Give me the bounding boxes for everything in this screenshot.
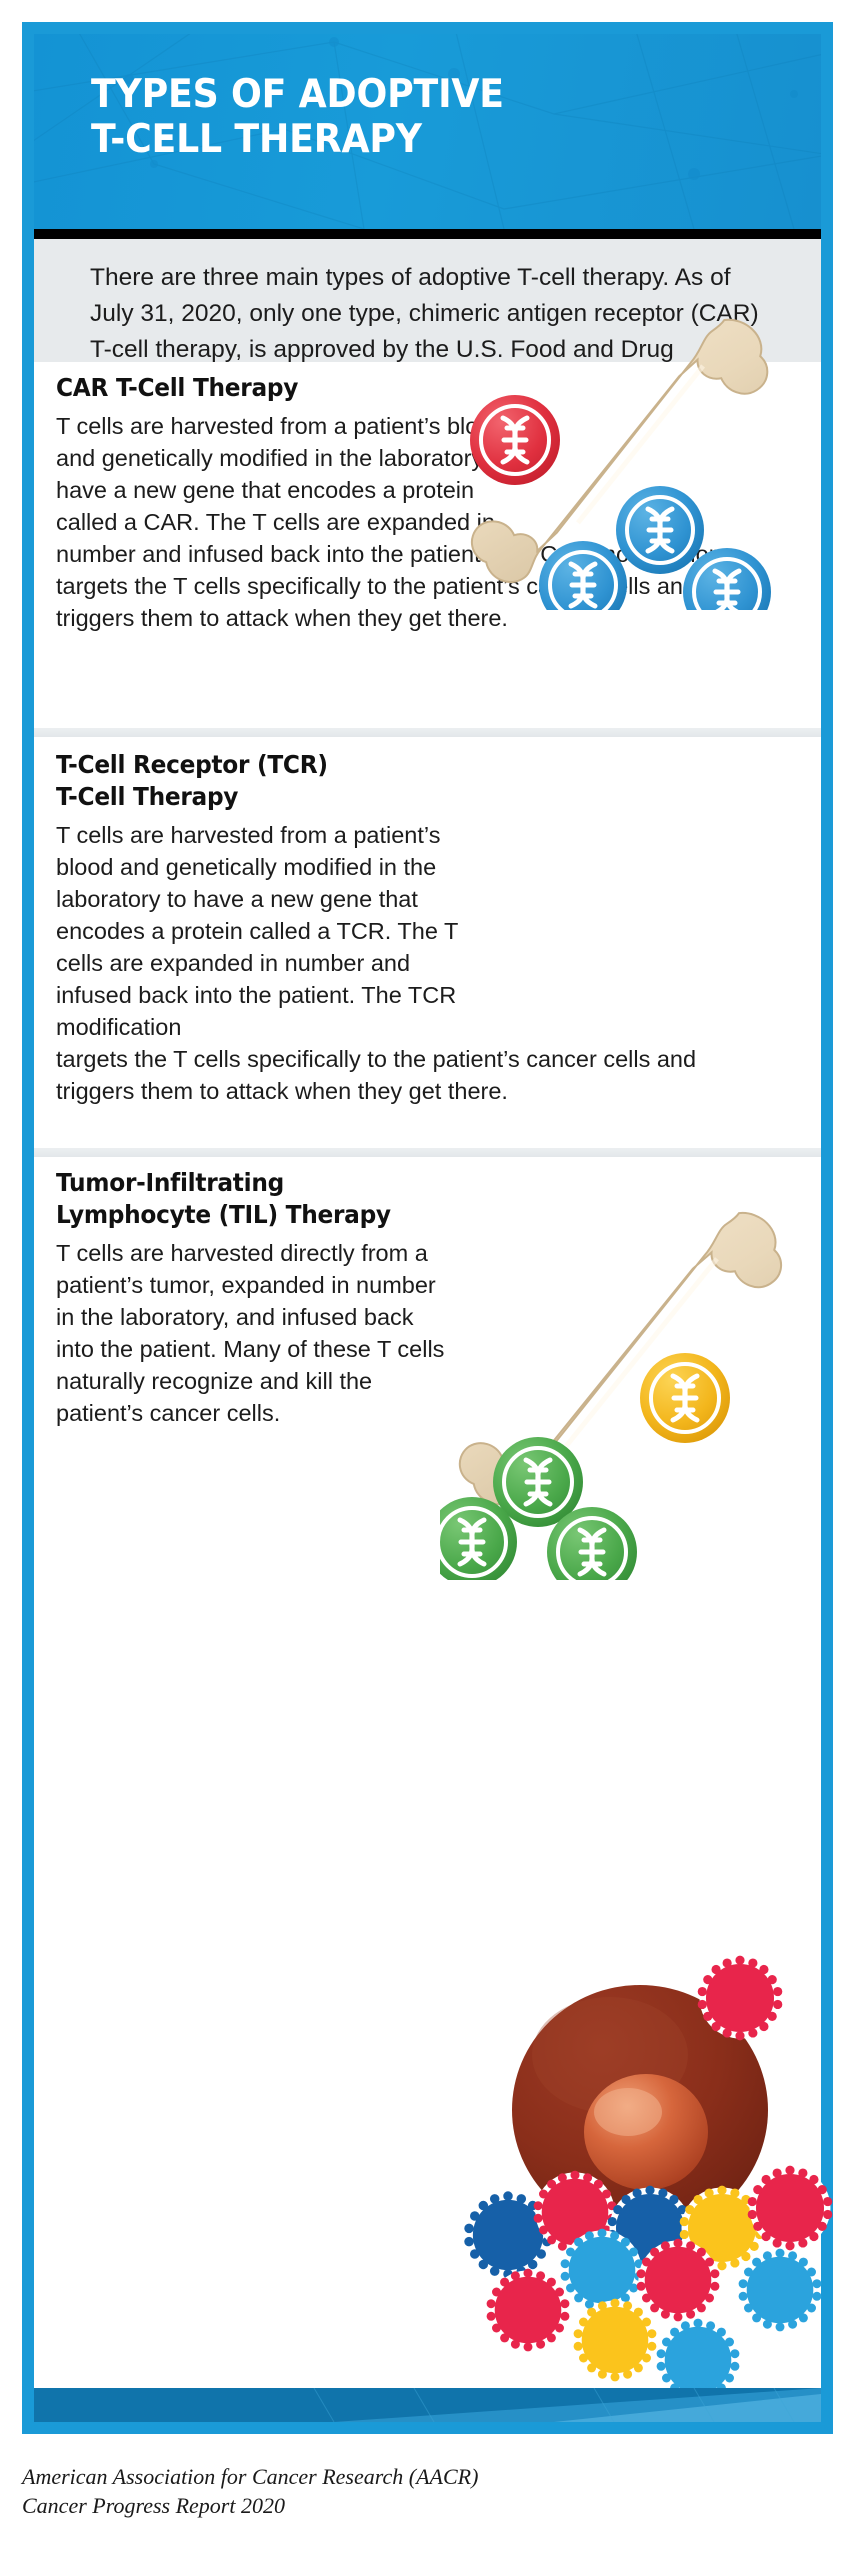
- attribution-line2: Cancer Progress Report 2020: [22, 2491, 722, 2520]
- footer-wedge-shapes: [34, 2388, 821, 2422]
- header-band: TYPES OF ADOPTIVE T-CELL THERAPY: [34, 34, 821, 229]
- section-car-heading: CAR T-Cell Therapy: [56, 372, 521, 404]
- section-tcr-body: T cells are harvested from a patient’s b…: [56, 819, 486, 1107]
- header-black-rule: [34, 229, 821, 239]
- section-til: Tumor-Infiltrating Lymphocyte (TIL) Ther…: [34, 1157, 821, 1577]
- section-tcr-heading-line1: T-Cell Receptor (TCR): [56, 750, 328, 779]
- content-area: CAR T-Cell Therapy T cells are harvested…: [34, 362, 821, 2422]
- attribution: American Association for Cancer Research…: [22, 2462, 722, 2520]
- section-tcr-body-wide: targets the T cells specifically to the …: [56, 1043, 772, 1107]
- section-tcr: T-Cell Receptor (TCR) T-Cell Therapy T c…: [34, 737, 821, 1142]
- section-til-heading-line2: Lymphocyte (TIL) Therapy: [56, 1200, 391, 1229]
- intro-panel: There are three main types of adoptive T…: [34, 239, 821, 362]
- page-title-line1: TYPES OF ADOPTIVE: [91, 72, 504, 117]
- footer-wedge-bar: [34, 2388, 821, 2422]
- section-tcr-heading: T-Cell Receptor (TCR) T-Cell Therapy: [56, 749, 493, 813]
- attribution-line1: American Association for Cancer Research…: [22, 2462, 722, 2491]
- section-car-body: T cells are harvested from a patient’s b…: [56, 410, 526, 634]
- section-til-body: T cells are harvested directly from a pa…: [56, 1237, 456, 1429]
- divider-car-tcr: [34, 728, 821, 737]
- page-title: TYPES OF ADOPTIVE T-CELL THERAPY: [91, 72, 733, 162]
- section-car: CAR T-Cell Therapy T cells are harvested…: [34, 362, 821, 722]
- infographic-root: TYPES OF ADOPTIVE T-CELL THERAPY There a…: [0, 0, 855, 2560]
- section-car-body-narrow: T cells are harvested from a patient’s b…: [56, 413, 509, 535]
- section-tcr-heading-line2: T-Cell Therapy: [56, 782, 238, 811]
- section-tcr-body-narrow: T cells are harvested from a patient’s b…: [56, 822, 458, 1040]
- section-til-heading: Tumor-Infiltrating Lymphocyte (TIL) Ther…: [56, 1167, 549, 1231]
- divider-tcr-til: [34, 1148, 821, 1157]
- page-title-line2: T-CELL THERAPY: [91, 117, 733, 162]
- section-til-heading-line1: Tumor-Infiltrating: [56, 1168, 284, 1197]
- section-car-body-wide: number and infused back into the patient…: [56, 538, 772, 634]
